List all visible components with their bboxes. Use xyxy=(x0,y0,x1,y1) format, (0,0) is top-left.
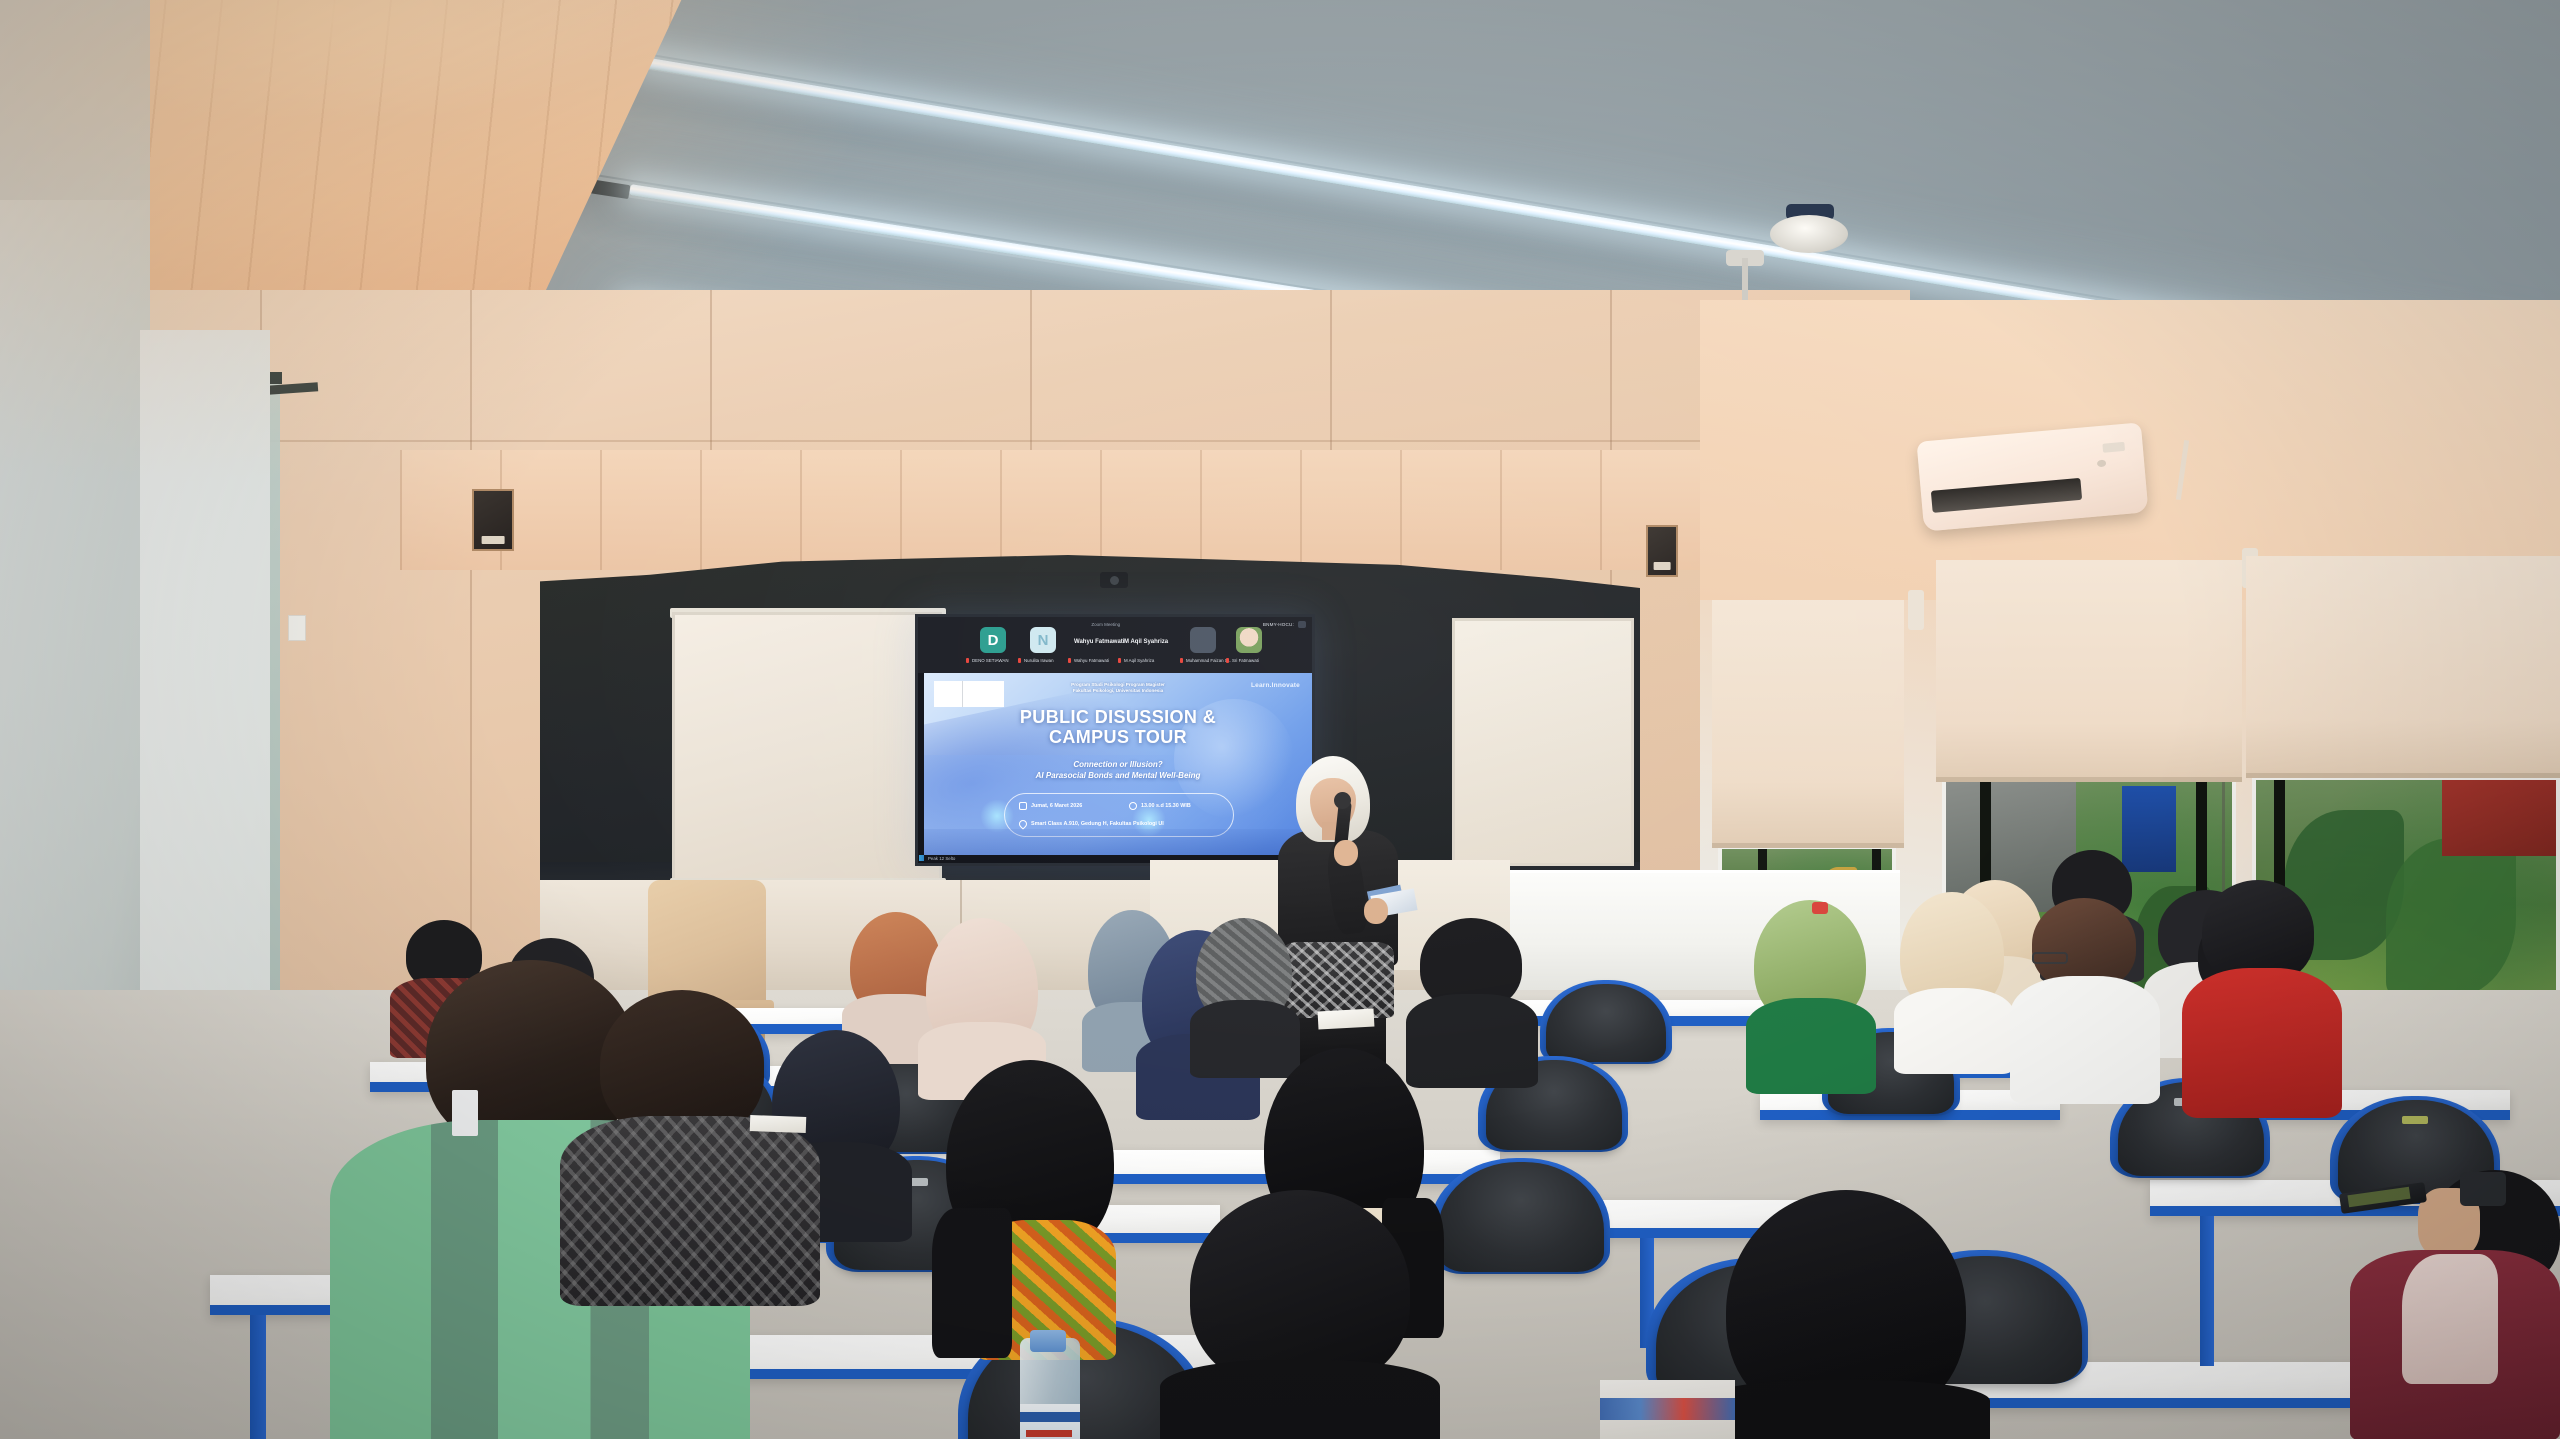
participant-mute-icon xyxy=(1226,658,1229,663)
chair-brand-tag xyxy=(2402,1116,2428,1124)
foliage xyxy=(2386,838,2516,998)
secondary-whiteboard xyxy=(1452,618,1634,866)
batik-vest xyxy=(560,1116,820,1306)
speaker-brand-plate xyxy=(482,536,505,544)
ceiling-warm-glow xyxy=(120,0,640,120)
videocall-footer-label: Peak 12 Selto xyxy=(928,856,955,861)
slide-title-line1: PUBLIC DISUSSION & xyxy=(1020,707,1216,727)
audience-member xyxy=(932,1060,1132,1350)
audience-member xyxy=(1700,1190,1990,1439)
participant-name: Wahyu Fatmawati xyxy=(1074,658,1109,663)
hijab-drape xyxy=(932,1208,1012,1358)
audience-member xyxy=(1894,892,2014,1062)
light-switch[interactable] xyxy=(288,615,306,641)
participant-mute-icon xyxy=(1068,658,1071,663)
calendar-icon xyxy=(1019,802,1027,810)
participant-display-name: Wahyu Fatmawati xyxy=(1074,639,1124,645)
torso xyxy=(1746,998,1876,1094)
audience-member xyxy=(1190,918,1300,1068)
video-call-participant-strip: Zoom Meeting BNMY-HOCU: D DENO SETIAWAN … xyxy=(918,617,1312,673)
slide-subtitle-line2: AI Parasocial Bonds and Mental Well-Bein… xyxy=(1036,771,1201,780)
roller-blind[interactable] xyxy=(2246,556,2560,778)
videocall-recording-label: BNMY-HOCU: xyxy=(1263,622,1294,627)
scarf xyxy=(2402,1254,2498,1384)
map-pin-icon xyxy=(1017,818,1028,829)
slide-title-line2: CAMPUS TOUR xyxy=(1049,727,1187,747)
upper-wall-band xyxy=(400,450,1700,570)
participant-avatar-tile[interactable]: D xyxy=(980,627,1006,653)
presentation-slide: Learn.Innovate Program Studi Psikologi P… xyxy=(924,673,1312,855)
right-wall-speaker xyxy=(1646,525,1678,577)
left-wall-speaker xyxy=(472,489,514,551)
participant-name: DENO SETIAWAN xyxy=(972,658,1009,663)
ac-indicator-icon xyxy=(2097,460,2107,468)
presenter-hand xyxy=(1334,840,1358,866)
classroom-photo-scene: Zoom Meeting BNMY-HOCU: D DENO SETIAWAN … xyxy=(0,0,2560,1439)
participant-avatar-tile[interactable]: N xyxy=(1030,627,1056,653)
hijab-pin-icon xyxy=(1812,902,1828,914)
whiteboard xyxy=(672,612,942,882)
notebook xyxy=(750,1115,807,1133)
ac-air-vent xyxy=(1931,478,2082,513)
slide-org-line2: Fakultas Psikologi, Universitas Indonesi… xyxy=(1073,688,1163,693)
participant-avatar-tile[interactable] xyxy=(1190,627,1216,653)
slide-subtitle-line1: Connection or Illusion? xyxy=(1073,760,1162,769)
slide-bottom-gradient xyxy=(924,829,1312,855)
camera-lens-icon xyxy=(1110,576,1119,585)
participant-name: Nurulita Irawan xyxy=(1024,658,1054,663)
torso xyxy=(1894,988,2014,1074)
microphone-head-icon xyxy=(1334,792,1351,809)
audience-member xyxy=(2182,880,2342,1110)
audience-member xyxy=(1746,900,1876,1080)
bottle-cap xyxy=(1030,1330,1066,1352)
exterior-red-wall xyxy=(2442,780,2560,856)
slide-location-row: Smart Class A.910, Gedung H, Fakultas Ps… xyxy=(1019,820,1164,828)
smoke-detector xyxy=(1770,215,1848,253)
presenter-hand xyxy=(1364,898,1388,924)
participant-avatar-tile[interactable] xyxy=(1236,627,1262,653)
slide-time-row: 13.00 s.d 15.30 WIB xyxy=(1129,802,1191,810)
participant-mute-icon xyxy=(1118,658,1121,663)
mobile-phone xyxy=(2460,1172,2506,1206)
slide-time: 13.00 s.d 15.30 WIB xyxy=(1141,803,1191,809)
audience-member xyxy=(560,990,820,1290)
participant-name: M Aqil Syahriza xyxy=(1124,658,1154,663)
slide-title: PUBLIC DISUSSION & CAMPUS TOUR xyxy=(924,707,1312,747)
audience-member xyxy=(2010,898,2160,1098)
participant-display-name: M Aqil Syahriza xyxy=(1124,639,1168,645)
blind-bracket xyxy=(1908,590,1924,630)
videocall-app-label: Zoom Meeting xyxy=(1091,622,1120,627)
participant-mute-icon xyxy=(1180,658,1183,663)
clock-icon xyxy=(1129,802,1137,810)
projection-screen: Zoom Meeting BNMY-HOCU: D DENO SETIAWAN … xyxy=(915,614,1315,866)
slide-location: Smart Class A.910, Gedung H, Fakultas Ps… xyxy=(1031,821,1164,827)
bottle-label-accent xyxy=(1026,1430,1072,1437)
slide-date: Jumat, 6 Maret 2026 xyxy=(1031,803,1082,809)
snack-box-graphic xyxy=(1600,1398,1735,1420)
glasses-icon xyxy=(2032,952,2068,964)
participant-mute-icon xyxy=(966,658,969,663)
slide-date-row: Jumat, 6 Maret 2026 xyxy=(1019,802,1082,810)
audience-member xyxy=(1160,1190,1440,1439)
torso xyxy=(2010,976,2160,1104)
bottle-label-band xyxy=(1020,1412,1080,1422)
torso xyxy=(1160,1360,1440,1439)
participant-name: Muhammad Faizan S... xyxy=(1186,658,1231,663)
torso xyxy=(1700,1380,1990,1439)
speaker-brand-plate xyxy=(1654,562,1671,570)
participant-name: Sri Fatmawati xyxy=(1232,658,1259,663)
torso xyxy=(2182,968,2342,1118)
videocall-record-indicator xyxy=(1298,621,1306,628)
slide-subtitle: Connection or Illusion? AI Parasocial Bo… xyxy=(924,760,1312,782)
roller-blind[interactable] xyxy=(1712,600,1904,848)
desk-leg xyxy=(250,1315,266,1439)
participant-mute-icon xyxy=(1018,658,1021,663)
ac-display-icon xyxy=(2102,442,2125,453)
notebook xyxy=(1318,1009,1375,1030)
slide-org-line1: Program Studi Psikologi Program Magister xyxy=(1071,682,1165,687)
desk-leg xyxy=(2200,1216,2214,1366)
lanyard-card xyxy=(452,1090,478,1136)
videocall-footer-icon xyxy=(919,855,924,861)
slide-organization: Program Studi Psikologi Program Magister… xyxy=(924,682,1312,695)
roller-blind[interactable] xyxy=(1936,560,2242,782)
hijab xyxy=(1726,1190,1966,1410)
